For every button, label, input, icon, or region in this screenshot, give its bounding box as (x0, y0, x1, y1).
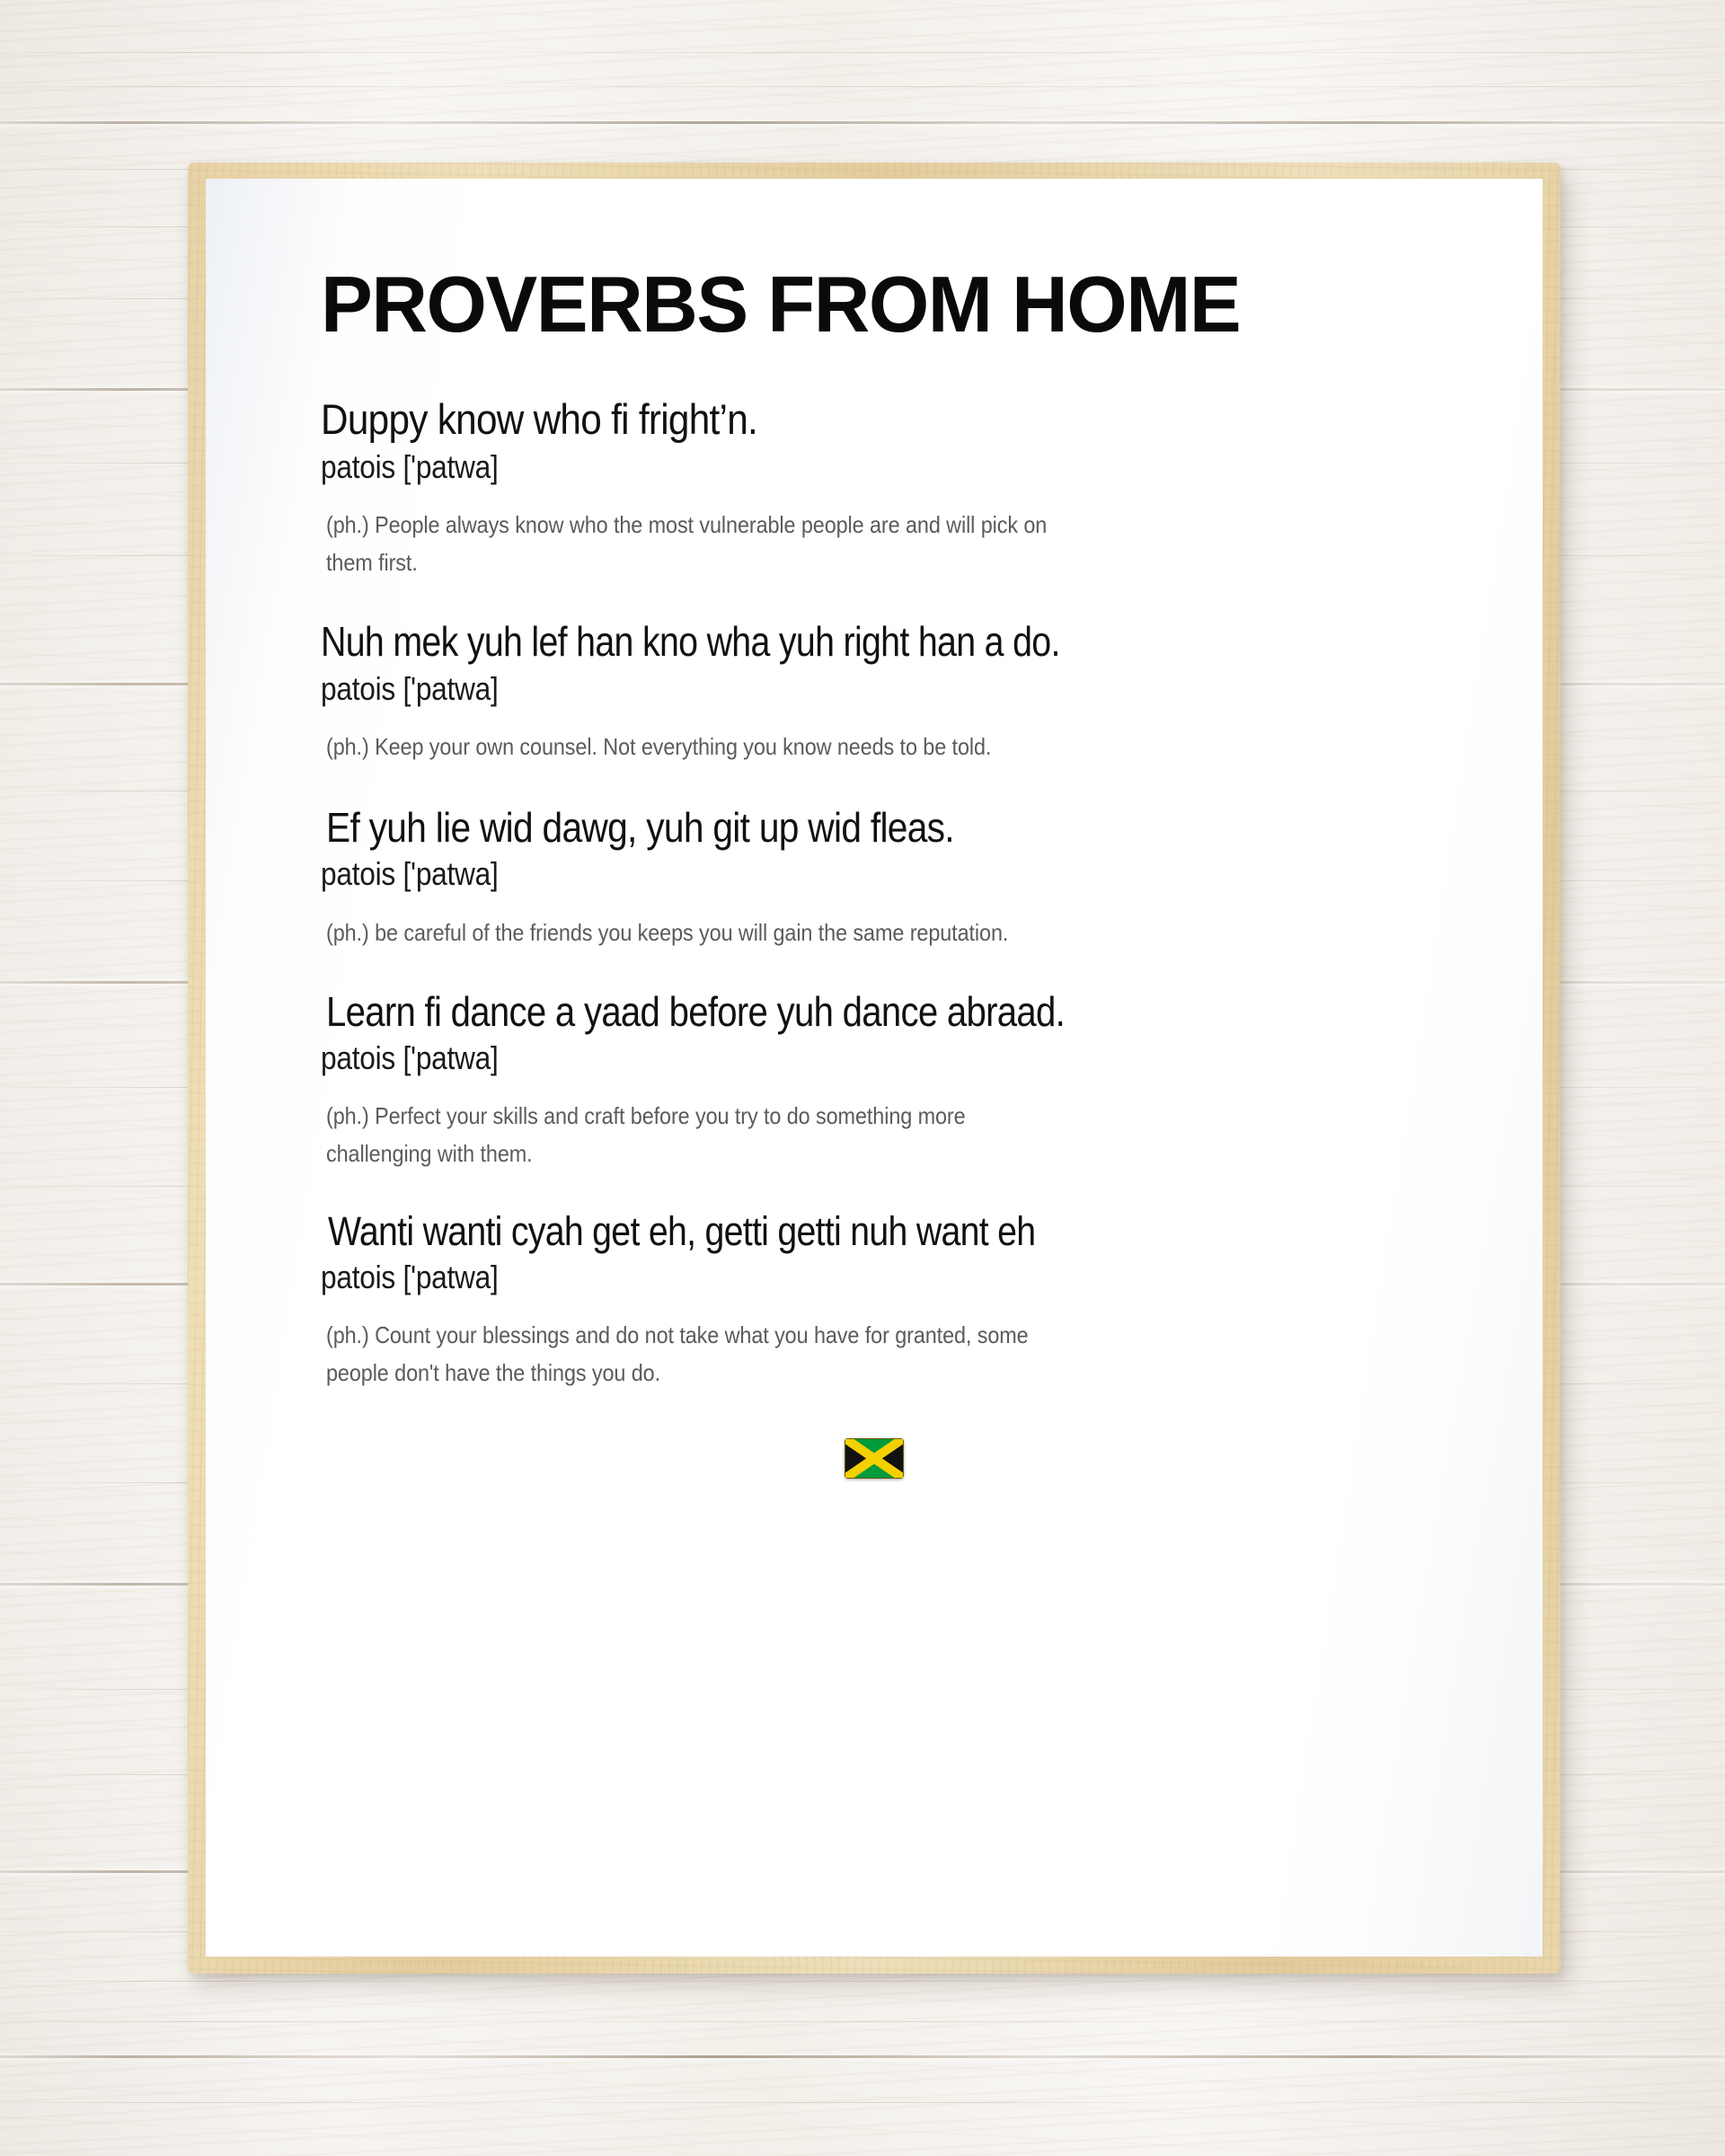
wood-grain-line (0, 1981, 1725, 1982)
proverb-pronunciation: patois ['patwa] (321, 1258, 1350, 1296)
proverb-phrase: Duppy know who fi fright’n. (321, 396, 1374, 444)
jamaica-flag-icon (845, 1438, 904, 1479)
wood-grain-line (0, 2021, 1725, 2022)
poster-paper: PROVERBS FROM HOME Duppy know who fi fri… (206, 179, 1543, 1957)
picture-frame: PROVERBS FROM HOME Duppy know who fi fri… (188, 163, 1561, 1974)
proverb-meaning: (ph.) be careful of the friends you keep… (326, 914, 1054, 951)
plank-seam (0, 121, 1725, 124)
proverb-meaning: (ph.) Count your blessings and do not ta… (326, 1316, 1054, 1392)
proverb-phrase: Learn fi dance a yaad before yuh dance a… (326, 989, 1341, 1036)
proverb-phrase: Wanti wanti cyah get eh, getti getti nuh… (328, 1209, 1341, 1254)
proverb-entry: Wanti wanti cyah get eh, getti getti nuh… (321, 1209, 1491, 1392)
proverb-meaning: (ph.) People always know who the most vu… (326, 506, 1054, 581)
proverb-entry: Learn fi dance a yaad before yuh dance a… (321, 989, 1491, 1173)
proverb-meaning: (ph.) Perfect your skills and craft befo… (326, 1097, 1054, 1172)
emblem-row (321, 1438, 1491, 1479)
proverb-entry: Duppy know who fi fright’n. patois ['pat… (321, 396, 1491, 581)
wood-grain-line (0, 2102, 1725, 2103)
wood-grain-line (0, 86, 1725, 87)
proverb-pronunciation: patois ['patwa] (321, 669, 1350, 708)
proverb-phrase: Ef yuh lie wid dawg, yuh git up wid flea… (326, 805, 1357, 852)
plank-seam (0, 2055, 1725, 2058)
poster-content: PROVERBS FROM HOME Duppy know who fi fri… (206, 179, 1543, 1957)
proverb-pronunciation: patois ['patwa] (321, 854, 1350, 893)
proverb-entry: Ef yuh lie wid dawg, yuh git up wid flea… (321, 805, 1491, 951)
proverb-entry: Nuh mek yuh lef han kno wha yuh right ha… (321, 619, 1491, 765)
proverb-pronunciation: patois ['patwa] (321, 1038, 1350, 1077)
proverb-meaning: (ph.) Keep your own counsel. Not everyth… (326, 728, 1054, 765)
wood-grain-line (0, 52, 1725, 53)
scene: PROVERBS FROM HOME Duppy know who fi fri… (0, 0, 1725, 2156)
proverb-phrase: Nuh mek yuh lef han kno wha yuh right ha… (321, 619, 1321, 666)
proverb-pronunciation: patois ['patwa] (321, 447, 1350, 486)
page-title: PROVERBS FROM HOME (321, 265, 1473, 344)
frame-mat: PROVERBS FROM HOME Duppy know who fi fri… (206, 179, 1543, 1957)
